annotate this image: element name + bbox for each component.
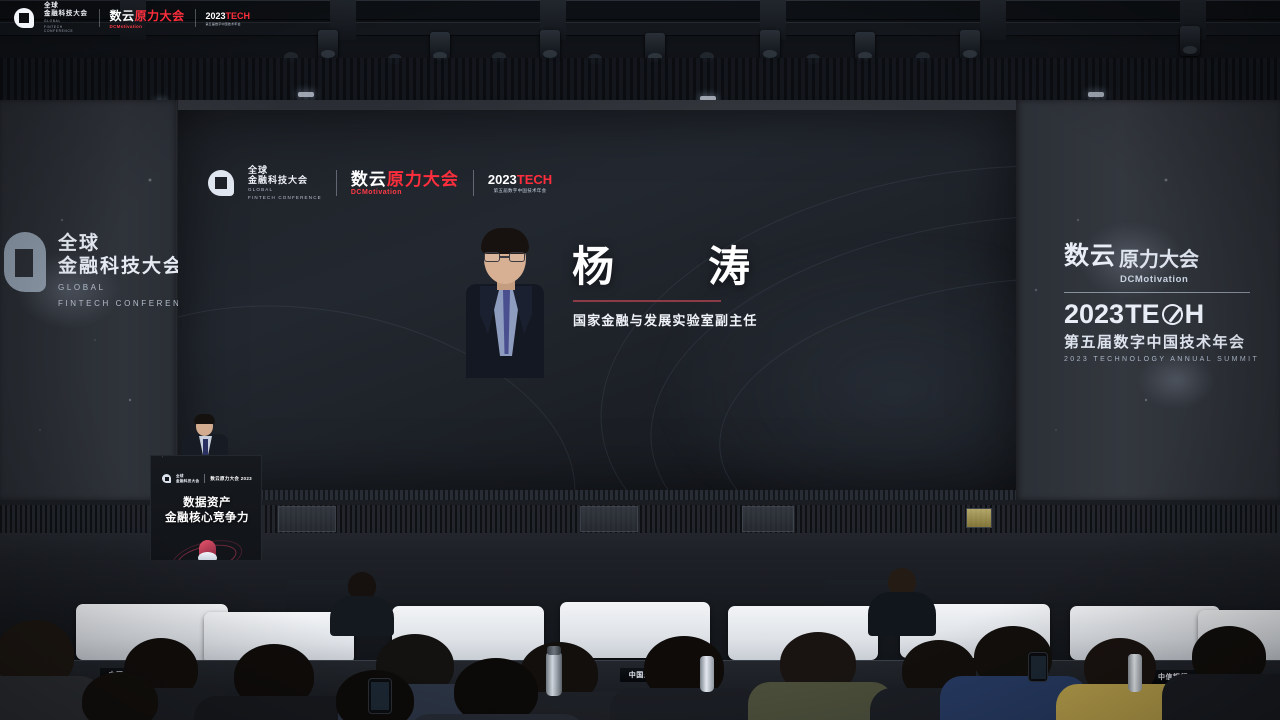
stage-light <box>960 30 980 60</box>
logo-divider <box>99 9 100 27</box>
portrait-glasses-icon <box>484 252 500 262</box>
podium-title-line1: 数据资产 <box>151 496 262 511</box>
stage-block <box>742 506 794 532</box>
audience-member <box>1064 638 1176 720</box>
gfc-logo-mark-icon <box>162 474 171 483</box>
thermos-bottle <box>546 652 562 696</box>
right-wall-brand-cn2: 原力大会 <box>1119 243 1199 272</box>
right-wall-branding: 数云 原力大会 DCMotivation 2023 TE H 第五届数字中国技术… <box>1064 236 1260 363</box>
podium-title: 数据资产 金融核心竞争力 <box>151 496 262 526</box>
led-gfc-cn-line2: 金融科技大会 <box>248 175 322 185</box>
tech-ring-icon <box>1159 301 1185 327</box>
right-wall-brand-cn: 数云 <box>1064 236 1116 272</box>
ceiling-spotlight <box>298 92 314 97</box>
led-gfc-cn-line1: 全球 <box>248 165 322 175</box>
gfc-logo-mark-icon <box>208 170 234 196</box>
right-wall-brand-en: DCMotivation <box>1120 274 1260 285</box>
led-tech: TECH <box>517 172 552 187</box>
right-wall-tech-post: H <box>1185 299 1205 329</box>
portrait-glasses-bridge <box>500 256 509 258</box>
conference-stage-scene: 全球 金融科技大会 GLOBAL FINTECH CONFERENCE 数云 原… <box>0 0 1280 720</box>
overlay-brand-cn-part1: 数云 <box>110 9 135 23</box>
podium-title-line2: 金融核心竞争力 <box>151 511 262 526</box>
stage-light <box>540 30 560 60</box>
led-brand-cn-part1: 数云 <box>351 170 387 189</box>
led-year: 2023 <box>488 172 517 187</box>
podium-logo-bar: 全球 金融科技大会 数云原力大会 2023 <box>162 474 252 483</box>
portrait-glasses-icon <box>509 252 525 262</box>
overlay-gfc-en-line2: FINTECH CONFERENCE <box>44 25 89 34</box>
logo-divider <box>204 474 205 483</box>
left-wall-cn-line2: 金融科技大会 <box>58 255 198 278</box>
speaker-hair <box>194 414 215 424</box>
stage-light <box>1180 26 1200 56</box>
led-tech-sub: 第五届数字中国技术年会 <box>488 188 552 194</box>
portrait-hair <box>481 228 529 254</box>
led-tech-wordmark: 2023TECH <box>488 172 552 187</box>
water-bottle <box>700 656 714 692</box>
truss-vertical <box>980 0 1006 40</box>
led-gfc-en-line2: FINTECH CONFERENCE <box>248 195 322 201</box>
right-wall-divider <box>1064 292 1250 293</box>
led-brand-cn: 数云原力大会 <box>351 171 459 189</box>
speaker-title: 国家金融与发展实验室副主任 <box>573 313 758 329</box>
audience-member <box>760 632 878 720</box>
overlay-tech: TECH <box>226 11 251 21</box>
broadcast-logo-overlay: 全球 金融科技大会 GLOBAL FINTECH CONFERENCE 数云原力… <box>0 0 250 36</box>
overlay-gfc-en-line1: GLOBAL <box>44 19 89 24</box>
audience-member <box>52 672 192 720</box>
overlay-tech-sub: 第五届数字中国技术年会 <box>205 22 250 26</box>
overlay-gfc-cn-line2: 金融科技大会 <box>44 10 89 18</box>
stage-block <box>278 506 336 532</box>
podium-brand-small: 数云原力大会 2023 <box>210 476 252 482</box>
podium-gfc-line2: 金融科技大会 <box>176 479 199 484</box>
overlay-brand-cn-part2: 原力大会 <box>135 9 185 23</box>
left-wall-en-line2: FINTECH CONFERENCE <box>58 298 198 310</box>
overlay-tech-wordmark: 2023TECH <box>205 11 250 21</box>
logo-divider <box>336 170 337 196</box>
right-wall-cn-title: 第五届数字中国技术年会 <box>1064 331 1260 352</box>
speaker-tie <box>203 439 208 456</box>
led-brand-en: DCMotivation <box>351 189 459 196</box>
led-brand-cn-part2: 原力大会 <box>387 170 459 189</box>
overlay-brand-en: DCMotivation <box>110 24 185 29</box>
speaker-name: 杨 涛 <box>572 243 776 291</box>
audience-member <box>620 636 746 720</box>
seated-person <box>330 572 394 634</box>
audience-member <box>950 626 1072 720</box>
left-wall-en-line1: GLOBAL <box>58 282 198 294</box>
water-bottle <box>1128 654 1142 692</box>
led-gfc-en-line1: GLOBAL <box>248 187 322 193</box>
bottle-cap <box>547 646 561 655</box>
right-wall-year: 2023 <box>1064 299 1124 329</box>
speaker-name-rule <box>573 300 721 302</box>
speaker-portrait-photo <box>462 228 548 378</box>
gfc-logo-mark-icon <box>14 8 34 28</box>
stage-light <box>760 30 780 60</box>
overlay-year: 2023 <box>205 11 225 21</box>
phone-screen <box>1031 656 1046 679</box>
left-wall-cn-line1: 全球 <box>58 232 198 255</box>
gfc-logo-mark-icon <box>4 232 46 292</box>
phone-screen <box>371 682 389 710</box>
smartphone[interactable] <box>1028 652 1048 682</box>
overlay-gfc-cn-line1: 全球 <box>44 2 89 10</box>
podium-microphone-icon <box>160 455 204 457</box>
logo-divider <box>195 9 196 27</box>
led-logo-bar: 全球 金融科技大会 GLOBAL FINTECH CONFERENCE 数云原力… <box>208 165 552 201</box>
stage-light <box>318 30 338 60</box>
audience-area: 资产 竞争力 中国民生银行 中国进出口银行 中信银行 <box>0 560 1280 720</box>
overlay-brand-cn: 数云原力大会 <box>110 7 185 24</box>
seated-person <box>868 568 936 634</box>
right-wall-tech-pre: TE <box>1125 299 1160 329</box>
ceiling-spotlight <box>1088 92 1104 97</box>
audience-member <box>1168 626 1280 720</box>
left-wall-branding: 全球 金融科技大会 GLOBAL FINTECH CONFERENCE <box>4 232 198 310</box>
stage-block <box>580 506 638 532</box>
right-wall-en-title: 2023 TECHNOLOGY ANNUAL SUMMIT <box>1064 356 1260 363</box>
stage-block-accent <box>966 508 992 528</box>
right-wall-tech-wordmark: 2023 TE H <box>1064 299 1260 329</box>
smartphone[interactable] <box>368 678 392 714</box>
logo-divider <box>473 170 474 196</box>
